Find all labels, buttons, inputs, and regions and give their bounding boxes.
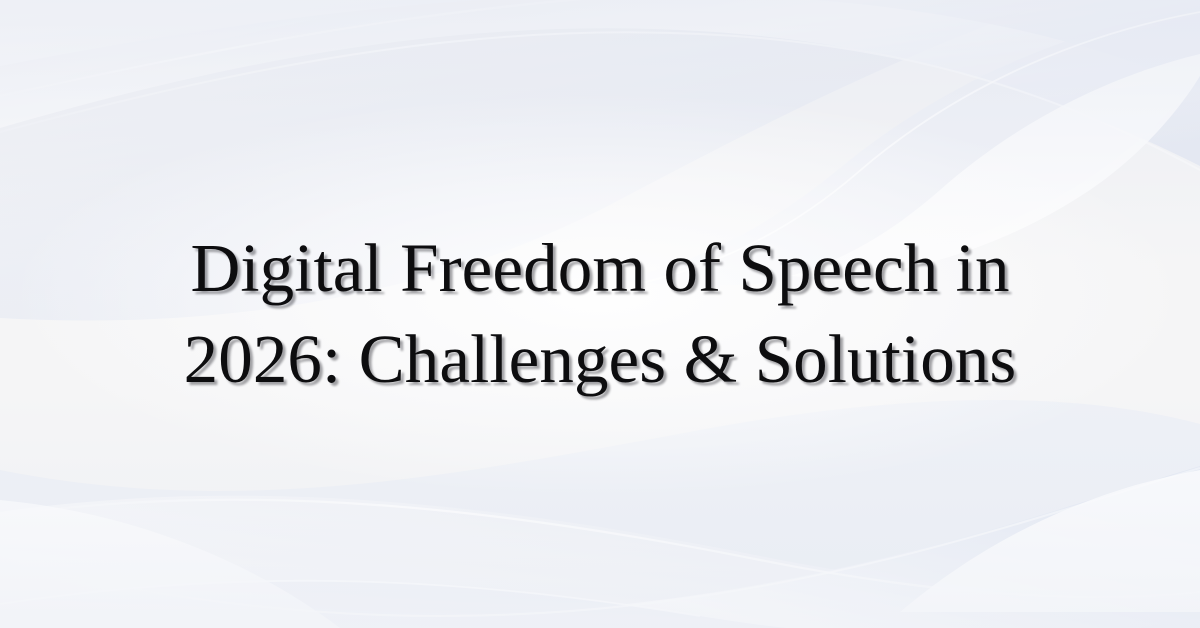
social-share-card: Digital Freedom of Speech in 2026: Chall…: [0, 0, 1200, 628]
title-block: Digital Freedom of Speech in 2026: Chall…: [0, 0, 1200, 628]
page-title: Digital Freedom of Speech in 2026: Chall…: [150, 223, 1050, 405]
